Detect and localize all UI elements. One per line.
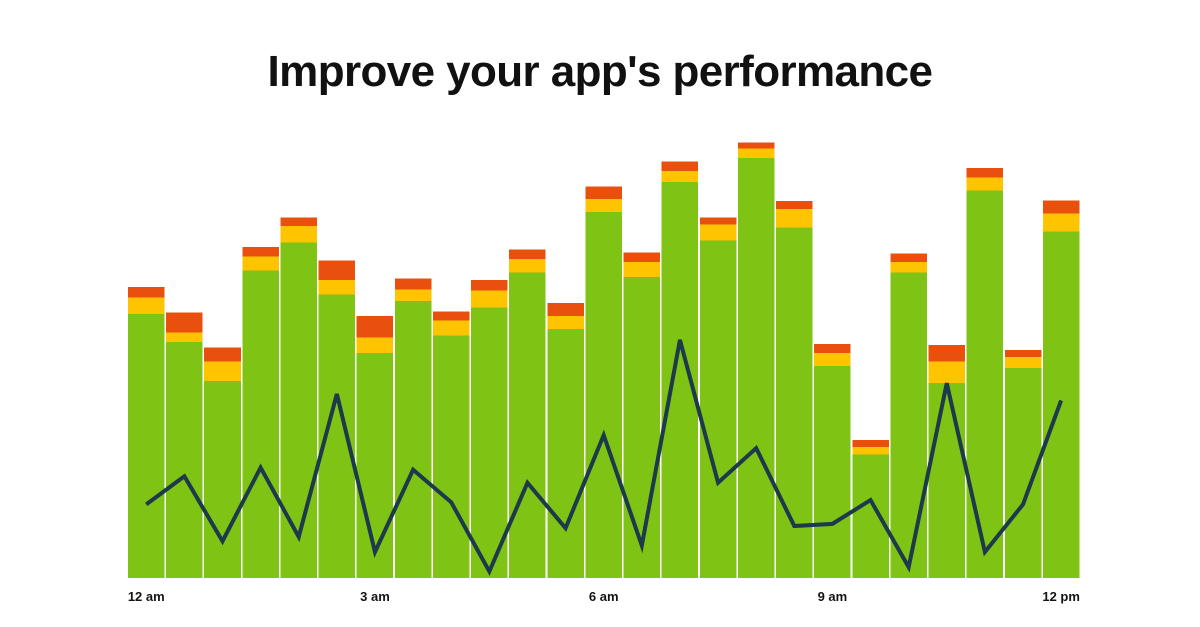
bar-segment-green bbox=[128, 314, 165, 578]
bar-stack[interactable] bbox=[242, 247, 279, 578]
bar-stack[interactable] bbox=[700, 218, 737, 578]
bar-stack[interactable] bbox=[624, 252, 661, 578]
bar-segment-green bbox=[585, 212, 622, 578]
chart-svg bbox=[0, 0, 1200, 627]
x-axis-tick-label: 6 am bbox=[589, 589, 619, 604]
bar-stack[interactable] bbox=[1043, 200, 1080, 578]
bar-segment-orange bbox=[1043, 200, 1080, 213]
bar-segment-orange bbox=[929, 345, 966, 361]
bar-segment-orange bbox=[433, 312, 470, 321]
bar-segment-orange bbox=[128, 287, 165, 297]
bar-segment-green bbox=[929, 383, 966, 578]
bar-segment-green bbox=[738, 158, 775, 578]
bar-segment-yellow bbox=[1005, 357, 1042, 368]
bar-stack[interactable] bbox=[929, 345, 966, 578]
bar-segment-yellow bbox=[128, 297, 165, 313]
bar-segment-orange bbox=[738, 142, 775, 148]
bar-stack[interactable] bbox=[585, 187, 622, 578]
bar-segment-orange bbox=[852, 440, 889, 447]
bar-segment-orange bbox=[204, 348, 241, 362]
bar-segment-orange bbox=[547, 303, 584, 316]
bar-segment-green bbox=[700, 240, 737, 578]
bar-segment-orange bbox=[280, 217, 317, 226]
bar-segment-green bbox=[204, 381, 241, 578]
bar-segment-green bbox=[242, 271, 279, 578]
bar-segment-yellow bbox=[547, 316, 584, 329]
bar-segment-green bbox=[814, 366, 851, 578]
bar-segment-yellow bbox=[357, 338, 394, 353]
bar-segment-orange bbox=[585, 187, 622, 200]
bar-segment-yellow bbox=[280, 226, 317, 242]
bar-stack[interactable] bbox=[280, 217, 317, 578]
bar-segment-yellow bbox=[471, 290, 508, 307]
bar-segment-green bbox=[395, 301, 432, 578]
x-axis-tick-label: 9 am bbox=[818, 589, 848, 604]
bar-segment-green bbox=[166, 342, 203, 578]
bar-segment-orange bbox=[357, 316, 394, 338]
bar-segment-green bbox=[280, 242, 317, 578]
bar-segment-yellow bbox=[166, 332, 203, 342]
bar-stack[interactable] bbox=[967, 168, 1004, 578]
bar-segment-green bbox=[509, 273, 546, 578]
bar-segment-yellow bbox=[204, 362, 241, 381]
bar-segment-yellow bbox=[852, 447, 889, 455]
chart-figure: Improve your app's performance 12 am3 am… bbox=[0, 0, 1200, 627]
bar-segment-green bbox=[662, 182, 699, 578]
bar-segment-orange bbox=[890, 253, 927, 262]
bar-stack[interactable] bbox=[128, 287, 165, 578]
bar-segment-yellow bbox=[929, 362, 966, 384]
bar-segment-orange bbox=[166, 313, 203, 333]
bar-segment-orange bbox=[1005, 350, 1042, 357]
bar-segment-green bbox=[547, 329, 584, 578]
bar-segment-yellow bbox=[624, 262, 661, 277]
bar-segment-yellow bbox=[1043, 213, 1080, 231]
bar-segment-yellow bbox=[509, 260, 546, 273]
bar-stack[interactable] bbox=[319, 261, 356, 578]
bar-stack[interactable] bbox=[395, 278, 432, 578]
bar-segment-yellow bbox=[967, 177, 1004, 190]
bar-segment-yellow bbox=[662, 171, 699, 182]
bar-stack[interactable] bbox=[890, 253, 927, 578]
bar-stack[interactable] bbox=[433, 312, 470, 578]
bar-segment-yellow bbox=[585, 199, 622, 212]
chart-plot-area bbox=[0, 0, 1200, 627]
bar-stack[interactable] bbox=[547, 303, 584, 578]
bar-segment-yellow bbox=[433, 320, 470, 335]
bar-segment-green bbox=[967, 190, 1004, 578]
bar-stack[interactable] bbox=[776, 201, 813, 578]
bar-segment-yellow bbox=[776, 209, 813, 227]
bar-segment-orange bbox=[509, 249, 546, 259]
bar-segment-orange bbox=[242, 247, 279, 257]
x-axis-tick-label: 3 am bbox=[360, 589, 390, 604]
bar-segment-yellow bbox=[395, 290, 432, 301]
bar-segment-orange bbox=[776, 201, 813, 209]
bar-stack[interactable] bbox=[357, 316, 394, 578]
bar-segment-green bbox=[433, 336, 470, 578]
bar-segment-orange bbox=[662, 161, 699, 171]
bar-stack[interactable] bbox=[738, 142, 775, 578]
bar-segment-orange bbox=[700, 218, 737, 225]
bar-stack[interactable] bbox=[166, 313, 203, 578]
bar-segment-yellow bbox=[738, 148, 775, 158]
bar-segment-orange bbox=[624, 252, 661, 262]
bar-segment-orange bbox=[967, 168, 1004, 178]
bar-stack[interactable] bbox=[471, 280, 508, 578]
bars-layer bbox=[128, 142, 1079, 578]
bar-stack[interactable] bbox=[814, 344, 851, 578]
bar-segment-yellow bbox=[319, 280, 356, 294]
bar-segment-yellow bbox=[242, 257, 279, 271]
bar-stack[interactable] bbox=[662, 161, 699, 578]
bar-segment-orange bbox=[395, 278, 432, 289]
bar-segment-green bbox=[852, 455, 889, 578]
bar-segment-yellow bbox=[890, 262, 927, 273]
bar-segment-yellow bbox=[700, 225, 737, 241]
bar-segment-orange bbox=[814, 344, 851, 353]
x-axis-tick-label: 12 pm bbox=[1042, 589, 1080, 604]
bar-stack[interactable] bbox=[509, 249, 546, 578]
bar-segment-orange bbox=[319, 261, 356, 280]
bar-segment-green bbox=[890, 273, 927, 578]
bar-segment-yellow bbox=[814, 353, 851, 366]
x-axis-tick-label: 12 am bbox=[128, 589, 165, 604]
bar-segment-green bbox=[624, 277, 661, 578]
bar-segment-orange bbox=[471, 280, 508, 290]
